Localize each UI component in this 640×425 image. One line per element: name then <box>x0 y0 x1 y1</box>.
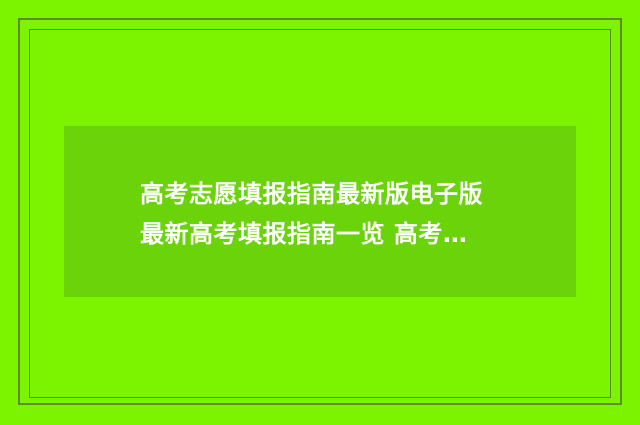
headline-panel: 高考志愿填报指南最新版电子版 最新高考填报指南一览 高考… <box>64 126 576 297</box>
headline-text-block: 高考志愿填报指南最新版电子版 最新高考填报指南一览 高考… <box>140 174 560 254</box>
headline-line-2: 最新高考填报指南一览 高考… <box>140 214 560 254</box>
headline-line-1: 高考志愿填报指南最新版电子版 <box>140 174 560 214</box>
poster-canvas: 高考志愿填报指南最新版电子版 最新高考填报指南一览 高考… <box>0 0 640 425</box>
